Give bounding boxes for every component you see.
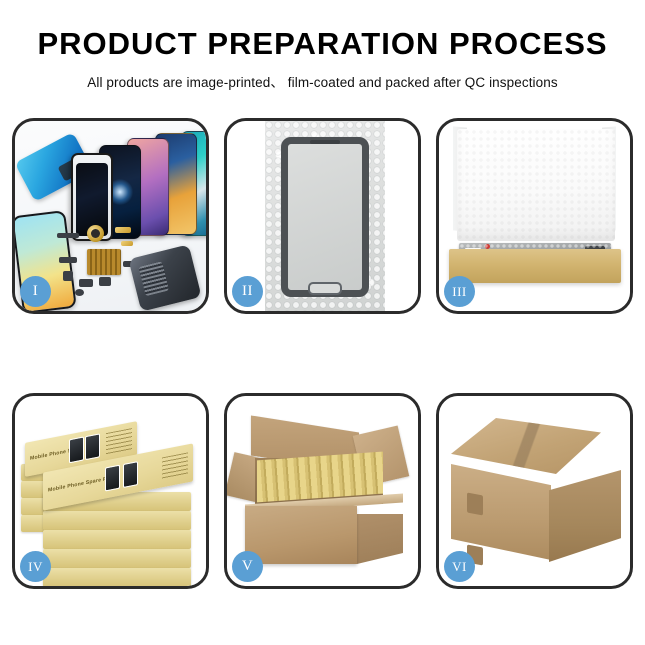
small-part-icon bbox=[99, 277, 111, 286]
step-badge-6: VI bbox=[444, 551, 475, 582]
step-card-4[interactable]: Mobile Phone Spare Parts bbox=[12, 393, 209, 589]
phone-print-icon bbox=[69, 436, 84, 463]
label-text-lines bbox=[106, 428, 132, 455]
header: PRODUCT PREPARATION PROCESS All products… bbox=[0, 0, 645, 91]
stacked-box bbox=[43, 530, 191, 549]
carton-handle-hole bbox=[467, 492, 483, 515]
step-badge-5: V bbox=[232, 551, 263, 582]
phone-print-icon bbox=[105, 465, 120, 492]
stacked-box bbox=[43, 549, 191, 568]
small-part-icon bbox=[75, 289, 84, 296]
steps-grid: I II bbox=[12, 118, 633, 578]
step-card-2[interactable]: II bbox=[224, 118, 421, 314]
carton-tape-seam bbox=[451, 418, 601, 474]
bubble-wrap-photo bbox=[265, 121, 385, 311]
carton-side-face bbox=[357, 514, 403, 564]
step-card-1[interactable]: I bbox=[12, 118, 209, 314]
step-card-5[interactable]: V bbox=[224, 393, 421, 589]
small-part-icon bbox=[57, 233, 79, 238]
phone-print-icon bbox=[85, 433, 100, 460]
carton-front-face bbox=[245, 506, 357, 564]
carton-side-face bbox=[549, 470, 621, 562]
small-part-icon bbox=[79, 279, 93, 287]
phone-print-icon bbox=[123, 461, 138, 488]
stacked-box bbox=[43, 511, 191, 530]
product-preparation-infographic: PRODUCT PREPARATION PROCESS All products… bbox=[0, 0, 645, 645]
gold-part-icon bbox=[115, 227, 131, 233]
carton-contents-boxes bbox=[257, 452, 383, 503]
step-card-3[interactable]: III bbox=[436, 118, 633, 314]
step-badge-2: II bbox=[232, 276, 263, 307]
stacked-box bbox=[43, 568, 191, 586]
small-part-icon bbox=[59, 257, 77, 263]
speaker-part-icon bbox=[87, 225, 104, 242]
white-foam-sheet bbox=[457, 129, 615, 241]
step-badge-4: IV bbox=[20, 551, 51, 582]
kraft-box-body bbox=[449, 249, 621, 283]
step-badge-3: III bbox=[444, 276, 475, 307]
connector-chip-icon bbox=[87, 249, 121, 275]
home-button-icon bbox=[308, 282, 342, 295]
gold-part-icon bbox=[121, 241, 133, 246]
step-card-6[interactable]: VI bbox=[436, 393, 633, 589]
phone-backcase-icon bbox=[128, 244, 201, 311]
step-badge-1: I bbox=[20, 276, 51, 307]
small-part-icon bbox=[63, 271, 73, 281]
label-text-lines bbox=[162, 452, 188, 479]
page-subtitle: All products are image-printed、 film-coa… bbox=[0, 71, 645, 91]
carton-front-face bbox=[451, 464, 551, 560]
page-title: PRODUCT PREPARATION PROCESS bbox=[0, 28, 645, 59]
box-stack: Mobile Phone Spare Parts bbox=[21, 408, 201, 578]
phone-lineup bbox=[71, 131, 201, 241]
wrapped-screen-icon bbox=[281, 137, 369, 297]
